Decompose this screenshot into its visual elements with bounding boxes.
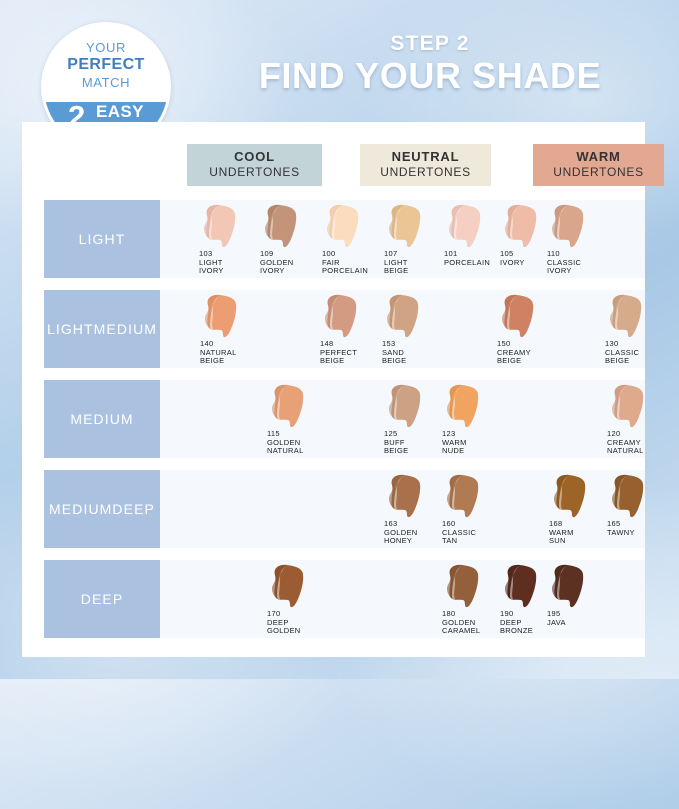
undertone-name: WARM [533,149,664,165]
shade-swatch-103[interactable]: 103LIGHTIVORY [199,203,246,276]
shade-swatch-190[interactable]: 190DEEPBRONZE [500,563,547,636]
undertone-name: COOL [187,149,322,165]
shade-swatch-115[interactable]: 115GOLDENNATURAL [267,383,314,456]
foundation-smear-icon [382,293,424,339]
row-label-medium: MEDIUM [44,380,160,458]
shade-swatch-153[interactable]: 153SANDBEIGE [382,293,429,366]
row-label-line: LIGHT [47,321,94,338]
shade-swatch-163[interactable]: 163GOLDENHONEY [384,473,431,546]
foundation-smear-icon [605,293,647,339]
foundation-smear-icon [497,293,539,339]
shade-swatch-170[interactable]: 170DEEPGOLDEN [267,563,314,636]
step-label: STEP 2 [265,32,595,56]
shade-swatch-180[interactable]: 180GOLDENCARAMEL [442,563,489,636]
shade-name: BEIGE [384,267,431,276]
undertone-header-warm: WARMUNDERTONES [533,144,664,186]
badge-line-easy: EASY [96,103,144,120]
shade-name: IVORY [199,267,246,276]
shade-swatch-120[interactable]: 120CREAMYNATURAL [607,383,654,456]
foundation-smear-icon [500,563,542,609]
row-label-line: MEDIUM [49,501,112,518]
foundation-smear-icon [442,473,484,519]
shade-swatch-125[interactable]: 125BUFFBEIGE [384,383,431,456]
foundation-smear-icon [260,203,302,249]
row-label-line: DEEP [81,591,124,608]
shade-row: MEDIUMDEEP163GOLDENHONEY160CLASSICTAN168… [44,470,645,548]
foundation-smear-icon [384,203,426,249]
foundation-smear-icon [500,203,542,249]
shade-name: PORCELAIN [322,267,369,276]
row-label-light-medium: LIGHTMEDIUM [44,290,160,368]
shade-swatch-107[interactable]: 107LIGHTBEIGE [384,203,431,276]
shade-swatch-100[interactable]: 100FAIRPORCELAIN [322,203,369,276]
shade-name: CARAMEL [442,627,489,636]
undertone-sublabel: UNDERTONES [187,165,322,180]
shade-swatch-130[interactable]: 130CLASSICBEIGE [605,293,652,366]
page-title: FIND YOUR SHADE [225,55,635,97]
shade-name: PORCELAIN [444,259,491,268]
undertone-header-neutral: NEUTRALUNDERTONES [360,144,491,186]
foundation-smear-icon [384,473,426,519]
shade-name: GOLDEN [267,627,314,636]
undertone-sublabel: UNDERTONES [533,165,664,180]
shade-name: HONEY [384,537,431,546]
foundation-smear-icon [607,473,649,519]
row-label-light: LIGHT [44,200,160,278]
foundation-smear-icon [267,383,309,429]
foundation-smear-icon [267,563,309,609]
shade-name: IVORY [547,267,594,276]
shade-name: BRONZE [500,627,547,636]
shade-swatch-150[interactable]: 150CREAMYBEIGE [497,293,544,366]
row-label-medium-deep: MEDIUMDEEP [44,470,160,548]
foundation-smear-icon [442,563,484,609]
row-label-line: LIGHT [79,231,126,248]
shade-name: NATURAL [607,447,654,456]
undertone-header-cool: COOLUNDERTONES [187,144,322,186]
shade-row: DEEP170DEEPGOLDEN180GOLDENCARAMEL190DEEP… [44,560,645,638]
shade-name: NATURAL [267,447,314,456]
badge-line-match: MATCH [44,75,168,90]
shade-name: BEIGE [320,357,367,366]
row-label-line: MEDIUM [94,321,157,338]
shade-swatch-148[interactable]: 148PERFECTBEIGE [320,293,367,366]
foundation-smear-icon [384,383,426,429]
shade-swatch-110[interactable]: 110CLASSICIVORY [547,203,594,276]
foundation-smear-icon [322,203,364,249]
row-label-line: MEDIUM [70,411,133,428]
shade-name: IVORY [260,267,307,276]
shade-name: TAN [442,537,489,546]
shade-swatch-195[interactable]: 195JAVA [547,563,594,627]
shade-chart-card: COOLUNDERTONESNEUTRALUNDERTONESWARMUNDER… [22,122,645,657]
shade-name: SUN [549,537,596,546]
shade-name: BEIGE [605,357,652,366]
shade-name: BEIGE [200,357,247,366]
shade-row: LIGHTMEDIUM140NATURALBEIGE148PERFECTBEIG… [44,290,645,368]
shade-row: LIGHT103LIGHTIVORY109GOLDENIVORY100FAIRP… [44,200,645,278]
shade-swatch-160[interactable]: 160CLASSICTAN [442,473,489,546]
foundation-smear-icon [547,563,589,609]
shade-swatch-168[interactable]: 168WARMSUN [549,473,596,546]
shade-name: IVORY [500,259,547,268]
foundation-smear-icon [320,293,362,339]
undertone-name: NEUTRAL [360,149,491,165]
shade-name: BEIGE [384,447,431,456]
shade-swatch-123[interactable]: 123WARMNUDE [442,383,489,456]
badge-line-perfect: PERFECT [44,56,168,74]
shade-name: BEIGE [382,357,429,366]
shade-name: JAVA [547,619,594,628]
foundation-smear-icon [549,473,591,519]
shade-swatch-109[interactable]: 109GOLDENIVORY [260,203,307,276]
shade-name: BEIGE [497,357,544,366]
shade-swatch-105[interactable]: 105IVORY [500,203,547,267]
foundation-smear-icon [442,383,484,429]
row-label-line: DEEP [112,501,155,518]
shade-swatch-165[interactable]: 165TAWNY [607,473,654,537]
foundation-smear-icon [607,383,649,429]
foundation-smear-icon [547,203,589,249]
shade-name: NUDE [442,447,489,456]
badge-line-your: YOUR [44,40,168,55]
shade-row: MEDIUM115GOLDENNATURAL125BUFFBEIGE123WAR… [44,380,645,458]
foundation-smear-icon [199,203,241,249]
row-label-deep: DEEP [44,560,160,638]
undertone-sublabel: UNDERTONES [360,165,491,180]
shade-name: TAWNY [607,529,654,538]
shade-swatch-101[interactable]: 101PORCELAIN [444,203,491,267]
shade-swatch-140[interactable]: 140NATURALBEIGE [200,293,247,366]
foundation-smear-icon [444,203,486,249]
foundation-smear-icon [200,293,242,339]
